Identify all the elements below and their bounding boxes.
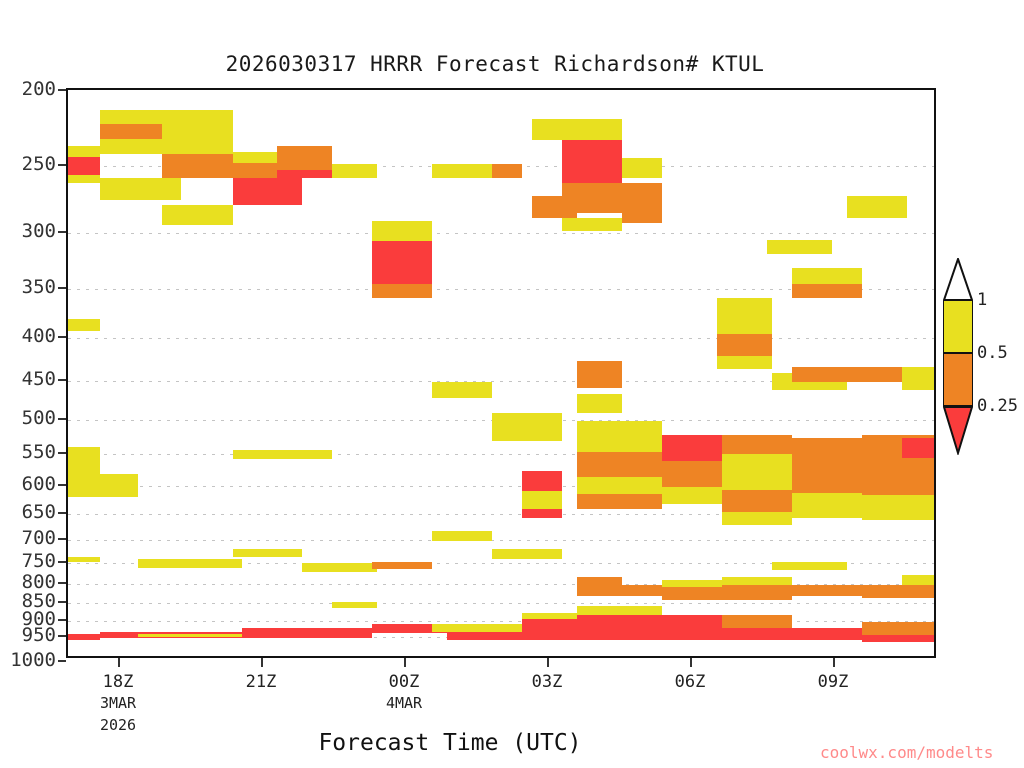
- chart-title-text: 2026030317 HRRR Forecast Richardson# KTU…: [226, 52, 765, 76]
- y-tick-mark-450: [58, 379, 66, 381]
- heatmap-cell: [492, 549, 562, 559]
- y-tick-mark-1000: [58, 660, 66, 662]
- y-tick-label-1000: 1000: [0, 649, 56, 671]
- x-tick-mark-00Z: [404, 658, 406, 667]
- y-tick-mark-750: [58, 561, 66, 563]
- y-tick-mark-300: [58, 231, 66, 233]
- y-tick-label-200: 200: [0, 78, 56, 100]
- heatmap-cell: [532, 119, 622, 140]
- heatmap-cell: [233, 178, 302, 205]
- heatmap-cell: [162, 124, 233, 154]
- y-tick-mark-800: [58, 582, 66, 584]
- y-tick-mark-200: [58, 89, 66, 91]
- heatmap-cell: [447, 632, 522, 641]
- heatmap-cell: [562, 218, 622, 231]
- y-tick-label-600: 600: [0, 473, 56, 495]
- y-tick-mark-700: [58, 538, 66, 540]
- heatmap-cell: [722, 577, 792, 585]
- y-tick-label-450: 450: [0, 368, 56, 390]
- colorbar: 10.50.25: [943, 300, 973, 460]
- x-tick-label-03Z: 03Z: [532, 672, 563, 692]
- heatmap-cell: [100, 178, 181, 201]
- y-tick-label-250: 250: [0, 153, 56, 175]
- heatmap-cell: [233, 450, 332, 459]
- heatmap-cell: [372, 241, 432, 285]
- x-tick-label-18Z: 18Z: [103, 672, 134, 692]
- x-tick-label-06Z: 06Z: [675, 672, 706, 692]
- watermark: coolwx.com/modelts: [820, 743, 993, 762]
- heatmap-cell: [372, 562, 432, 569]
- heatmap-cell: [792, 284, 862, 297]
- heatmap-cell: [162, 205, 233, 225]
- colorbar-label-0: 1: [977, 290, 987, 310]
- y-tick-mark-350: [58, 287, 66, 289]
- heatmap-cell: [562, 183, 662, 212]
- heatmap-cell: [138, 559, 242, 568]
- y-tick-label-550: 550: [0, 441, 56, 463]
- x-tick-mark-06Z: [690, 658, 692, 667]
- y-tick-mark-500: [58, 418, 66, 420]
- x-tick-date-18Z: 3MAR: [100, 694, 136, 712]
- y-tick-mark-950: [58, 635, 66, 637]
- heatmap-cell: [522, 509, 562, 517]
- y-tick-label-500: 500: [0, 407, 56, 429]
- colorbar-label-1: 0.5: [977, 343, 1008, 363]
- y-tick-mark-900: [58, 619, 66, 621]
- heatmap-cell: [862, 622, 936, 635]
- x-tick-label-00Z: 00Z: [389, 672, 420, 692]
- heatmap-cell: [622, 213, 662, 224]
- heatmap-cell: [577, 585, 662, 596]
- heatmap-cell: [577, 477, 662, 493]
- y-tick-mark-650: [58, 512, 66, 514]
- heatmap-cell: [162, 170, 233, 178]
- y-tick-mark-250: [58, 164, 66, 166]
- heatmap-cell: [432, 531, 492, 541]
- heatmap-cell: [792, 585, 862, 596]
- heatmap-cell: [68, 157, 100, 176]
- y-tick-label-350: 350: [0, 276, 56, 298]
- heatmap-cells: [68, 90, 934, 656]
- heatmap-cell: [332, 164, 377, 178]
- heatmap-cell: [577, 421, 662, 452]
- ground-band: [68, 656, 934, 657]
- heatmap-cell: [902, 438, 936, 458]
- heatmap-cell: [792, 455, 862, 493]
- heatmap-cell: [722, 512, 792, 525]
- y-tick-mark-550: [58, 452, 66, 454]
- heatmap-cell: [372, 221, 432, 241]
- heatmap-cell: [100, 139, 162, 154]
- plot-area: [66, 88, 936, 658]
- heatmap-cell: [772, 562, 847, 571]
- heatmap-cell: [717, 356, 772, 369]
- y-tick-label-950: 950: [0, 624, 56, 646]
- heatmap-cell: [662, 580, 722, 587]
- heatmap-cell: [792, 367, 902, 382]
- heatmap-cell: [277, 170, 332, 178]
- x-axis-title: Forecast Time (UTC): [0, 730, 900, 756]
- heatmap-cell: [68, 447, 100, 474]
- heatmap-cell: [767, 240, 832, 255]
- heatmap-cell: [577, 361, 622, 376]
- heatmap-cell: [233, 549, 302, 557]
- heatmap-cell: [162, 110, 233, 124]
- colorbar-arrow-top: [943, 258, 973, 300]
- x-tick-mark-18Z: [118, 658, 120, 667]
- x-tick-mark-09Z: [833, 658, 835, 667]
- heatmap-cell: [862, 585, 936, 598]
- y-tick-mark-400: [58, 336, 66, 338]
- heatmap-cell: [68, 557, 100, 562]
- heatmap-cell: [792, 438, 862, 455]
- heatmap-cell: [577, 375, 622, 388]
- heatmap-cell: [717, 298, 772, 334]
- colorbar-arrow-bottom: [943, 406, 973, 454]
- colorbar-label-2: 0.25: [977, 396, 1018, 416]
- heatmap-cell: [722, 615, 792, 629]
- x-tick-label-21Z: 21Z: [246, 672, 277, 692]
- heatmap-cell: [68, 319, 100, 331]
- heatmap-cell: [847, 196, 907, 217]
- heatmap-cell: [862, 495, 936, 520]
- heatmap-cell: [162, 154, 233, 170]
- x-tick-label-09Z: 09Z: [818, 672, 849, 692]
- heatmap-cell: [722, 585, 792, 600]
- heatmap-cell: [562, 140, 622, 183]
- heatmap-cell: [577, 615, 662, 641]
- heatmap-cell: [662, 435, 722, 462]
- heatmap-cell: [902, 575, 936, 586]
- heatmap-cell: [302, 563, 377, 572]
- heatmap-cell: [492, 413, 562, 441]
- heatmap-cell: [722, 454, 792, 490]
- heatmap-cell: [138, 634, 242, 637]
- heatmap-cell: [577, 577, 622, 585]
- y-tick-mark-850: [58, 601, 66, 603]
- colorbar-segment-yellow: [943, 300, 973, 353]
- heatmap-cell: [792, 628, 862, 640]
- heatmap-cell: [577, 394, 622, 414]
- heatmap-cell: [722, 490, 792, 512]
- heatmap-cell: [577, 494, 662, 510]
- heatmap-cell: [277, 146, 332, 170]
- x-tick-mark-03Z: [547, 658, 549, 667]
- heatmap-cell: [662, 487, 722, 504]
- heatmap-cell: [717, 334, 772, 356]
- heatmap-cell: [432, 624, 522, 632]
- heatmap-cell: [792, 268, 862, 285]
- x-tick-mark-21Z: [261, 658, 263, 667]
- heatmap-cell: [662, 587, 722, 600]
- heatmap-cell: [522, 619, 577, 640]
- heatmap-cell: [622, 158, 662, 178]
- heatmap-cell: [242, 628, 372, 638]
- heatmap-cell: [902, 367, 936, 390]
- x-tick-date-00Z: 4MAR: [386, 694, 422, 712]
- heatmap-cell: [522, 491, 562, 509]
- heatmap-cell: [100, 124, 162, 139]
- y-tick-mark-600: [58, 484, 66, 486]
- heatmap-cell: [522, 471, 562, 491]
- y-tick-label-650: 650: [0, 501, 56, 523]
- heatmap-cell: [332, 602, 377, 608]
- heatmap-cell: [68, 634, 100, 640]
- heatmap-cell: [372, 284, 432, 297]
- heatmap-cell: [68, 175, 100, 183]
- heatmap-cell: [68, 474, 138, 497]
- heatmap-cell: [662, 461, 722, 487]
- heatmap-cell: [662, 615, 722, 641]
- heatmap-cell: [492, 164, 522, 178]
- y-tick-label-300: 300: [0, 220, 56, 242]
- heatmap-cell: [862, 635, 936, 642]
- heatmap-cell: [432, 382, 492, 398]
- heatmap-cell: [722, 435, 792, 454]
- y-tick-label-400: 400: [0, 325, 56, 347]
- colorbar-segment-orange: [943, 353, 973, 406]
- heatmap-cell: [577, 606, 662, 615]
- heatmap-cell: [432, 164, 492, 178]
- chart-page: 2026030317 HRRR Forecast Richardson# KTU…: [0, 0, 1024, 768]
- heatmap-cell: [577, 452, 662, 478]
- y-tick-label-700: 700: [0, 527, 56, 549]
- chart-title: 2026030317 HRRR Forecast Richardson# KTU…: [0, 52, 1024, 76]
- heatmap-cell: [68, 146, 100, 157]
- heatmap-cell: [722, 628, 792, 640]
- y-tick-label-750: 750: [0, 550, 56, 572]
